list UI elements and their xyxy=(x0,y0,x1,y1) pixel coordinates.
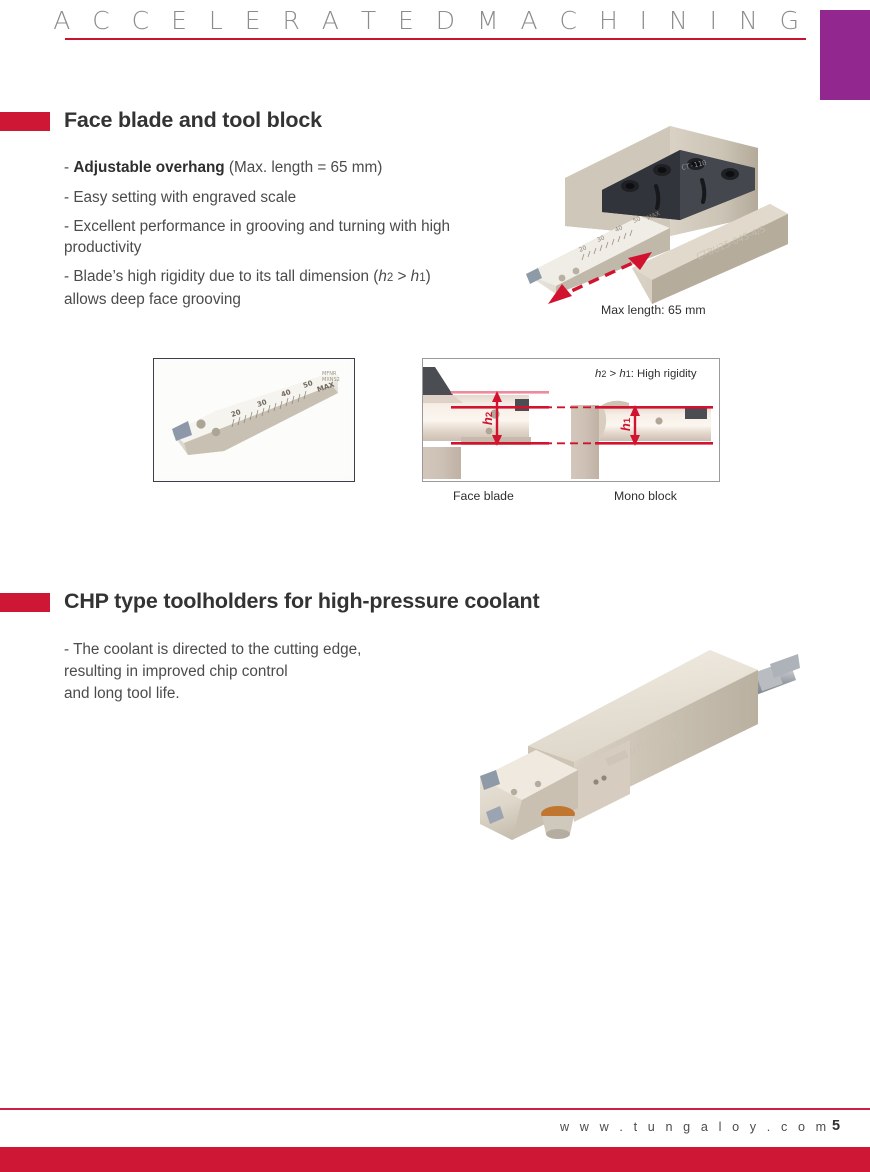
diagram-note-rigidity: h2 > h1: High rigidity xyxy=(595,368,697,380)
bullet-rigidity-gt: > xyxy=(393,268,410,285)
bullet-adjustable-overhang: - Adjustable overhang (Max. length = 65 … xyxy=(64,157,504,178)
bullet-coolant-2: resulting in improved chip control xyxy=(64,661,484,682)
section-color-tab xyxy=(820,10,870,100)
bullet-rigidity-h2: h xyxy=(378,268,387,285)
section-heading-chp: CHP type toolholders for high-pressure c… xyxy=(64,589,539,614)
bullet-rigidity-line2: allows deep face grooving xyxy=(64,291,241,308)
footer-page-number: 5 xyxy=(832,1118,840,1134)
bullet-rigidity-line1b: ) xyxy=(426,268,431,285)
bullet-rigidity-h1: h xyxy=(411,268,420,285)
dimension-label-h2: h2 xyxy=(480,412,495,425)
footer-color-bar xyxy=(0,1147,870,1172)
diagram-caption-face-blade: Face blade xyxy=(453,489,514,503)
engraved-scale-photo: 20 30 40 50 MAX MFNR MXNS2 xyxy=(153,358,355,482)
section-heading-face-blade: Face blade and tool block xyxy=(64,108,322,133)
footer-divider-rule xyxy=(0,1108,870,1110)
rigidity-comparison-diagram: h2 h1 h2 > h1: High rigidity xyxy=(422,358,720,482)
tool-block-photo-label: Max length: 65 mm xyxy=(601,303,706,317)
bullet-rest-text: (Max. length = 65 mm) xyxy=(225,159,383,176)
dimension-label-h1: h1 xyxy=(618,418,633,431)
bullet-engraved-scale: - Easy setting with engraved scale xyxy=(64,187,504,208)
diagram-caption-mono-block: Mono block xyxy=(614,489,677,503)
footer-website-url: w w w . t u n g a l o y . c o m xyxy=(560,1120,804,1134)
bullet-coolant-3: and long tool life. xyxy=(64,683,484,704)
tool-block-photo: CTBU25-045-4/5 CT-110 xyxy=(520,108,820,308)
bullet-rigidity-line1a: - Blade’s high rigidity due to its tall … xyxy=(64,268,378,285)
svg-text:MXNS2: MXNS2 xyxy=(322,377,340,383)
bullet-performance: - Excellent performance in grooving and … xyxy=(64,216,524,258)
bullet-dash: - xyxy=(64,159,73,176)
page-header-title: A C C E L E R A T E D M A C H I N I N G xyxy=(0,6,806,35)
bullet-coolant-1: - The coolant is directed to the cutting… xyxy=(64,639,484,660)
header-divider-rule xyxy=(65,38,806,40)
bullet-rigidity: - Blade’s high rigidity due to its tall … xyxy=(64,266,534,310)
bullet-bold-text: Adjustable overhang xyxy=(73,159,224,176)
section-marker-face-blade xyxy=(0,112,50,131)
section-marker-chp xyxy=(0,593,50,612)
chp-toolholder-photo: tungaloy xyxy=(470,628,800,843)
